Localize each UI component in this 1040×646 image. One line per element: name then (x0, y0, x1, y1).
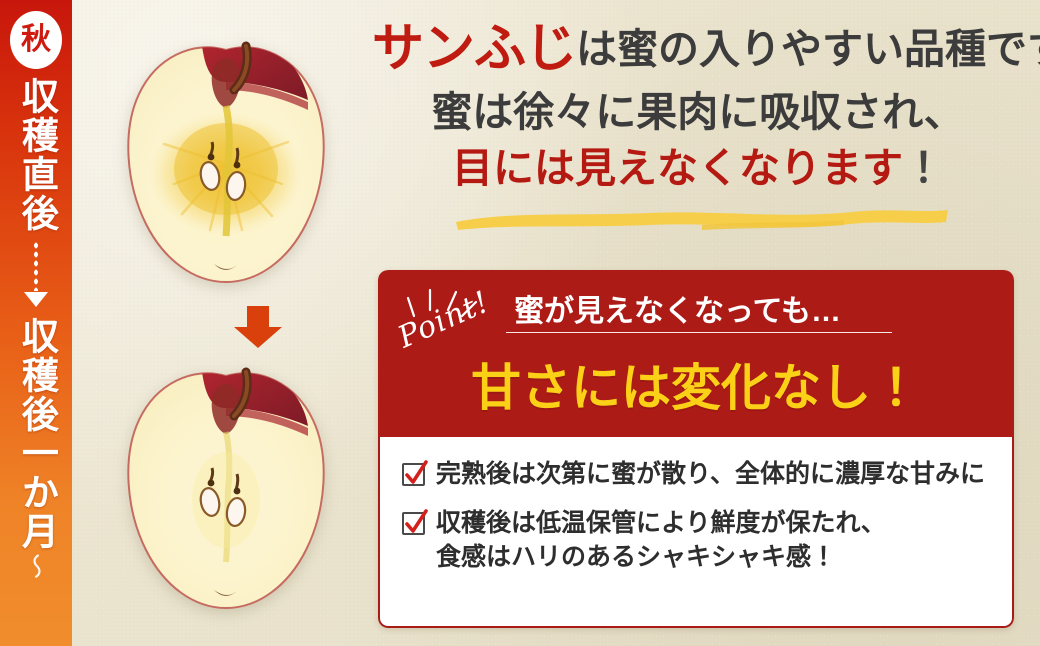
check-mark-icon (403, 459, 429, 487)
arrow-head (24, 292, 48, 307)
stage-label-tilde: 〜 (18, 553, 55, 579)
apple-comparison-column (72, 0, 372, 646)
list-item: 完熟後は次第に蜜が散り、全体的に濃厚な甘みに (402, 457, 990, 492)
apple-photo-harvest-fresh (110, 24, 342, 296)
headline-line-1: サンふじは蜜の入りやすい品種ですが、 (372, 18, 1024, 81)
list-item: 収穫後は低温保管により鮮度が保たれ、 食感はハリのあるシャキシャキ感！ (402, 506, 990, 575)
infographic-poster: 秋 収穫直後 収穫後一か月 〜 (0, 0, 1040, 646)
list-item-text-line-2: 食感はハリのあるシャキシャキ感！ (436, 543, 836, 571)
list-item-text: 完熟後は次第に蜜が散り、全体的に濃厚な甘みに (436, 457, 985, 492)
stage-label-before: 収穫直後 (17, 77, 56, 233)
heading-divider (506, 332, 892, 333)
highlighter-underline (452, 205, 952, 231)
dotted-down-arrow-icon (24, 241, 48, 313)
list-item-text-line-1: 収穫後は低温保管により鮮度が保たれ、 (436, 509, 886, 537)
checkbox-checked-icon (402, 463, 425, 486)
headline-line-3-red: 目には見えなくなります (452, 145, 903, 191)
down-arrow-icon (234, 306, 282, 348)
point-card-heading: 蜜が見えなくなっても… (514, 286, 984, 330)
headline-line-1-rest: は蜜の入りやすい品種ですが、 (576, 26, 1040, 72)
point-card-body: 完熟後は次第に蜜が散り、全体的に濃厚な甘みに 収穫後は低温保管により鮮度が保たれ… (378, 437, 1014, 628)
headline-line-2: 蜜は徐々に果肉に吸収され、 (372, 87, 1024, 137)
point-card: Point! 蜜が見えなくなっても… 甘さには変化なし！ 完熟後は次第に蜜が散り… (378, 270, 1014, 628)
product-name: サンふじ (372, 20, 576, 78)
stage-label-after: 収穫後一か月 (17, 317, 56, 551)
checkbox-checked-icon (402, 512, 425, 535)
headline-line-3: 目には見えなくなります！ (372, 143, 1024, 193)
check-mark-icon (403, 508, 429, 536)
apple-photo-one-month-after (110, 350, 342, 622)
headline-block: サンふじは蜜の入りやすい品種ですが、 蜜は徐々に果肉に吸収され、 目には見えなく… (372, 18, 1024, 193)
point-card-header: Point! 蜜が見えなくなっても… 甘さには変化なし！ (378, 270, 1014, 437)
arrow-head (234, 327, 282, 348)
headline-exclamation: ！ (903, 145, 944, 191)
dotted-line (33, 241, 39, 291)
season-badge: 秋 (10, 11, 62, 69)
point-card-subheading: 甘さには変化なし！ (416, 348, 976, 420)
timeline-sidebar: 秋 収穫直後 収穫後一か月 〜 (0, 0, 72, 646)
arrow-shaft (247, 306, 269, 328)
list-item-text: 収穫後は低温保管により鮮度が保たれ、 食感はハリのあるシャキシャキ感！ (436, 506, 886, 575)
